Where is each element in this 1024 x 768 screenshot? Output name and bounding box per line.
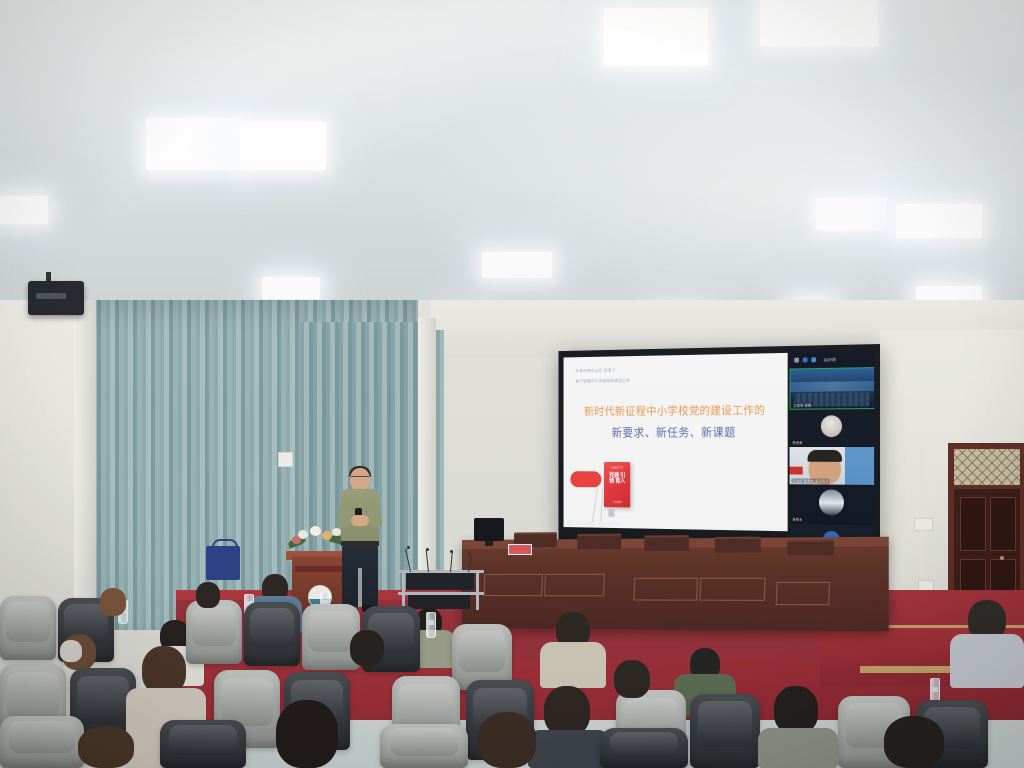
projection-screen: 中共中央办公厅 印发了 关于加强中小学校党的建设工作 新时代新征程中小学校党的建…	[558, 344, 880, 548]
attendee-head	[60, 640, 82, 662]
ceiling-light	[816, 198, 886, 230]
auditorium-seat	[0, 716, 84, 768]
blue-tote-bag	[206, 546, 240, 580]
book-bottom-caption: 人民出版社	[607, 500, 626, 504]
microphone-stand	[426, 550, 430, 572]
attendee-head	[774, 686, 818, 734]
video-tile-name: 主会场 视频	[792, 403, 812, 408]
table-panel-diamond	[699, 578, 765, 601]
ceiling-light	[240, 122, 326, 170]
slide-wire	[600, 488, 603, 522]
stage-chair-back	[715, 537, 761, 553]
flower	[322, 531, 332, 540]
leg-gap	[358, 568, 362, 607]
slide-footer-text: 党建引领育人 立德树人 全面推进从严治党	[567, 521, 622, 527]
ceiling-light	[482, 252, 552, 278]
attendee-head	[544, 686, 590, 736]
monitor-stand	[485, 541, 493, 546]
stage-chair-back	[644, 535, 689, 551]
door-knob[interactable]	[1000, 556, 1004, 560]
attendee-head	[276, 700, 338, 768]
table-panel-diamond	[776, 582, 830, 605]
rack-equipment	[408, 595, 470, 609]
presentation-slide: 中共中央办公厅 印发了 关于加强中小学校党的建设工作 新时代新征程中小学校党的建…	[564, 353, 788, 531]
attendee-body	[950, 634, 1024, 688]
projector	[28, 281, 84, 315]
ceiling	[0, 0, 1024, 345]
door-panel	[960, 497, 986, 551]
flower	[310, 526, 321, 536]
slide-header-line-1: 中共中央办公厅 印发了	[576, 368, 616, 375]
table-panel-diamond	[484, 574, 543, 596]
video-tile-name: 李老师	[791, 440, 803, 445]
video-tile-name: 王主任 发言中 麦克风开	[791, 478, 829, 483]
flower	[292, 536, 301, 544]
attendee-head	[78, 726, 134, 768]
auditorium-seat	[160, 720, 246, 768]
attendee-body	[528, 730, 610, 768]
rack-leg	[402, 570, 405, 610]
slide-title-line-1: 新时代新征程中小学校党的建设工作的	[564, 402, 788, 419]
book-cover-text: 党建 引领 育人	[607, 473, 626, 485]
avatar	[819, 490, 844, 516]
auditorium-seat	[186, 600, 242, 664]
attendee-head	[196, 582, 220, 608]
ceiling-light	[146, 118, 242, 170]
microphone-head	[450, 550, 453, 553]
wall-socket[interactable]	[914, 518, 933, 531]
auditorium-seat	[0, 596, 56, 660]
mute-icon[interactable]	[794, 358, 799, 363]
presenter-glasses	[351, 476, 369, 481]
slide-red-tag	[570, 471, 601, 487]
door-transom-window	[954, 449, 1020, 485]
auditorium-seat	[244, 602, 300, 666]
slide-wire	[592, 488, 598, 521]
video-icon[interactable]	[803, 357, 808, 362]
attendee-head	[884, 716, 944, 768]
ceiling-light	[896, 204, 982, 238]
wall-pillar-left	[74, 300, 96, 620]
video-tile-dark[interactable]: 张校长	[790, 485, 875, 525]
presenter-hands	[351, 515, 369, 526]
video-panel-label: 会议列表	[824, 357, 836, 362]
ceiling-light	[760, 0, 878, 46]
water-bottle	[426, 612, 436, 638]
table-panel-diamond	[633, 578, 698, 601]
attendee-body	[758, 728, 838, 768]
attendee-head	[100, 588, 126, 616]
ceiling-light	[262, 277, 320, 299]
slide-book-stand	[608, 509, 614, 517]
slide-book-cover: 中国共产党 党建 引领 育人 人民出版社	[604, 462, 630, 508]
video-tile-speaker[interactable]: 王主任 发言中 麦克风开	[790, 447, 875, 486]
ceiling-light	[0, 196, 48, 224]
lecture-hall-photo: 中共中央办公厅 印发了 关于加强中小学校党的建设工作 新时代新征程中小学校党的建…	[0, 0, 1024, 768]
attendee-head	[478, 712, 536, 768]
microphone-head	[407, 546, 410, 549]
microphone-head	[426, 548, 429, 551]
video-conference-panel[interactable]: 会议列表 主会场 视频 李老师 王主任 发言中 麦克风开 张校长	[790, 351, 875, 541]
avatar	[821, 415, 842, 437]
presenter	[336, 468, 384, 614]
rack-leg	[476, 570, 479, 610]
bag-handle	[212, 539, 238, 550]
book-top-caption: 中国共产党	[607, 466, 626, 470]
video-tile-avatar[interactable]: 李老师	[790, 409, 875, 447]
name-card	[508, 544, 532, 555]
video-tile-hall[interactable]: 主会场 视频	[790, 367, 875, 410]
video-tile-name: 张校长	[791, 517, 803, 522]
table-panel-diamond	[544, 574, 605, 597]
auditorium-seat	[380, 724, 468, 768]
door-panel	[990, 497, 1016, 551]
auditorium-seat	[600, 728, 688, 768]
stage-chair-back	[787, 539, 834, 555]
video-conference-toolbar[interactable]: 会议列表	[790, 351, 875, 368]
microphone-stand	[405, 548, 411, 572]
ceiling-light-sheen	[0, 0, 1024, 345]
attendee-head	[350, 630, 384, 666]
share-icon[interactable]	[811, 357, 816, 362]
microphone-head	[468, 552, 471, 555]
ceiling-light	[604, 8, 708, 66]
auditorium-seat	[690, 694, 760, 768]
slide-title-line-2: 新要求、新任务、新课题	[564, 423, 788, 440]
attendee-head	[142, 646, 186, 694]
attendee-head	[614, 660, 650, 698]
projector-lens	[36, 293, 66, 299]
rack-equipment	[406, 573, 474, 590]
wall-switch-plate	[278, 452, 293, 467]
stage-monitor	[474, 518, 504, 541]
attendee-body	[540, 642, 606, 688]
slide-header-line-2: 关于加强中小学校党的建设工作	[576, 378, 631, 385]
stage-chair-back	[577, 534, 621, 550]
av-equipment-rack	[398, 548, 486, 610]
